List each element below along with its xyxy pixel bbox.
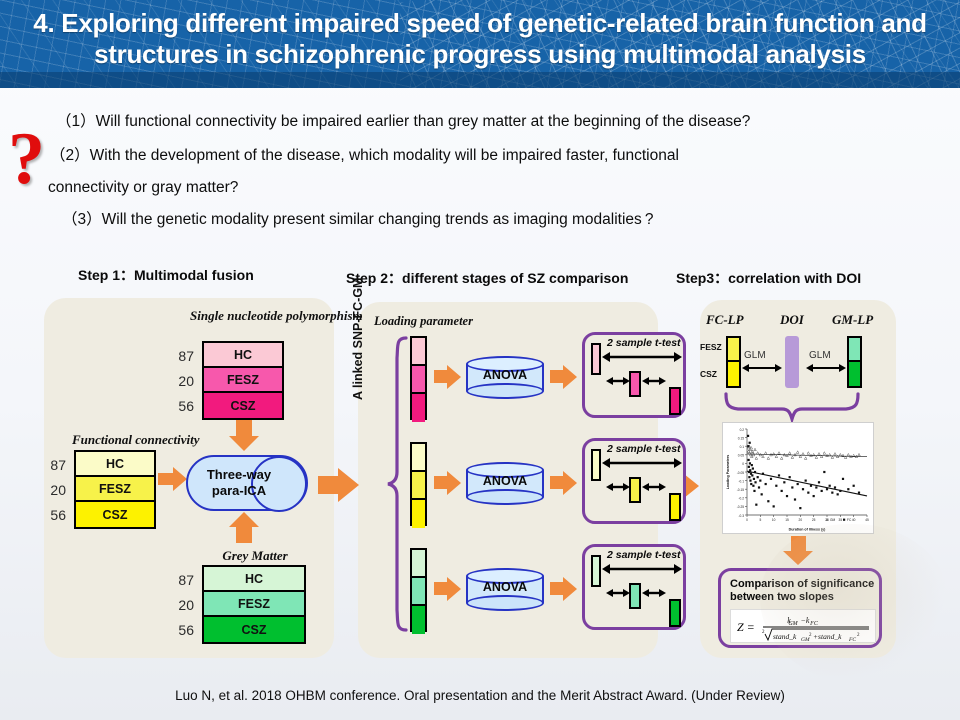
glm-arrow-left (742, 362, 782, 374)
count-value: 56 (42, 502, 66, 527)
fc-stack: HCFESZCSZ (74, 450, 156, 529)
snp-label: Single nucleotide polymorphism (190, 308, 320, 324)
count-value: 20 (170, 368, 194, 393)
anova-label: ANOVA (466, 474, 544, 488)
stack-cell-csz: CSZ (204, 393, 282, 418)
loading-strip-segment (412, 550, 425, 578)
loading-strip-segment (412, 578, 425, 606)
gm-counts: 872056 (170, 567, 194, 642)
arrow-step1-to-step2 (318, 466, 360, 504)
step3-brace (722, 392, 862, 422)
gm-label: Grey Matter (190, 548, 320, 564)
count-value: 20 (42, 477, 66, 502)
svg-text:GM: GM (830, 518, 835, 522)
svg-text:0: 0 (746, 518, 748, 522)
svg-text:5: 5 (759, 518, 761, 522)
snp-stack: HCFESZCSZ (202, 341, 284, 420)
svg-text:0.15: 0.15 (738, 436, 744, 440)
banner-bottom-band (0, 72, 960, 88)
count-value: 87 (42, 452, 66, 477)
svg-text:0: 0 (742, 462, 744, 466)
fc-counts: 872056 (42, 452, 66, 527)
loading-strip-segment (412, 338, 425, 366)
ttest-bar (591, 343, 601, 375)
question-line-3: （3）Will the genetic modality present sim… (62, 210, 654, 229)
loading-parameter-label: Loading parameter (374, 314, 473, 329)
formula-lhs: Z = (737, 620, 755, 634)
lp-bar-segment (849, 338, 860, 362)
arrow-strip-to-anova (434, 364, 462, 390)
lp-bar-segment (849, 362, 860, 386)
ttest-bar (629, 477, 641, 503)
question-line-2-cont: connectivity or gray matter? (48, 178, 238, 197)
stack-cell-hc: HC (76, 452, 154, 477)
svg-text:0.2: 0.2 (740, 428, 745, 432)
loading-strip-fc-row (410, 442, 427, 526)
ttest-box-fc-row: 2 sample t-test (582, 438, 686, 524)
arrow-anova-to-ttest (550, 576, 578, 602)
glm-label-right: GLM (809, 350, 831, 361)
lp-bar-segment (728, 362, 739, 386)
svg-text:0.1: 0.1 (740, 445, 745, 449)
step3-caption: Step3：correlation with DOI (676, 268, 861, 288)
arrow-strip-to-anova (434, 470, 462, 496)
footer-citation: Luo N, et al. 2018 OHBM conference. Oral… (0, 688, 960, 703)
fc-lp-row-label-fesz: FESZ (700, 342, 722, 352)
svg-text:-0.15: -0.15 (737, 488, 744, 492)
correlation-scatter-plot: 0.20.150.10.050-0.05-0.1-0.15-0.2-0.25-0… (722, 422, 874, 534)
ttest-bar (591, 555, 601, 587)
stack-cell-fesz: FESZ (76, 477, 154, 502)
count-value: 56 (170, 617, 194, 642)
page-title: 4. Exploring different impaired speed of… (0, 0, 960, 70)
svg-text:25: 25 (812, 518, 816, 522)
stack-cell-fesz: FESZ (204, 368, 282, 393)
svg-text:45: 45 (865, 518, 869, 522)
gm-lp-label: GM-LP (832, 312, 873, 328)
count-value: 56 (170, 393, 194, 418)
ttest-bar (591, 449, 601, 481)
svg-text:-0.1: -0.1 (739, 479, 745, 483)
cylinder-bottom (466, 489, 544, 505)
ttest-box-gm-row: 2 sample t-test (582, 544, 686, 630)
svg-text:FC: FC (847, 518, 852, 522)
fc-lp-label: FC-LP (706, 312, 744, 328)
fc-lp-bar (726, 336, 741, 388)
step2-brace (386, 336, 408, 632)
anova-label: ANOVA (466, 368, 544, 382)
cylinder-bottom (466, 595, 544, 611)
svg-text:-0.3: -0.3 (739, 514, 745, 518)
gm-stack: HCFESZCSZ (202, 565, 306, 644)
cylinder-bottom (466, 383, 544, 399)
svg-text:-0.05: -0.05 (737, 471, 744, 475)
glm-label-left: GLM (744, 350, 766, 361)
svg-text:20: 20 (799, 518, 803, 522)
ttest-bar (669, 493, 681, 521)
doi-bar (785, 336, 799, 388)
loading-strip-segment (412, 366, 425, 394)
loading-strip-gm-row (410, 548, 427, 632)
loading-strip-segment (412, 500, 425, 528)
fc-lp-row-label-csz: CSZ (700, 369, 717, 379)
brain-watermark (760, 524, 950, 684)
question-line-2: （2）With the development of the disease, … (50, 146, 679, 165)
svg-text:2: 2 (762, 630, 765, 635)
stack-cell-csz: CSZ (204, 617, 304, 642)
title-banner: 4. Exploring different impaired speed of… (0, 0, 960, 88)
svg-text:10: 10 (772, 518, 776, 522)
svg-text:-0.2: -0.2 (739, 497, 745, 501)
anova-cylinder-fc-row: ANOVA (466, 462, 544, 504)
count-value: 20 (170, 592, 194, 617)
doi-label: DOI (780, 312, 804, 328)
ttest-bar (669, 599, 681, 627)
svg-text:Loading Parameters: Loading Parameters (726, 455, 730, 490)
snp-counts: 872056 (170, 343, 194, 418)
arrow-gm-to-ica (228, 512, 262, 544)
anova-label: ANOVA (466, 580, 544, 594)
ttest-bar (629, 371, 641, 397)
anova-cylinder-snp-row: ANOVA (466, 356, 544, 398)
ica-label: Three-way para-ICA (196, 467, 282, 499)
arrow-anova-to-ttest (550, 364, 578, 390)
gm-lp-bar (847, 336, 862, 388)
count-value: 87 (170, 567, 194, 592)
svg-text:15: 15 (785, 518, 789, 522)
arrow-fc-to-ica (158, 465, 188, 499)
three-way-para-ica-node: Three-way para-ICA (186, 455, 308, 511)
stack-cell-hc: HC (204, 567, 304, 592)
step1-caption: Step 1：Multimodal fusion (78, 265, 254, 285)
ttest-label: 2 sample t-test (607, 337, 681, 349)
arrow-strip-to-anova (434, 576, 462, 602)
fc-label: Functional connectivity (72, 432, 188, 448)
loading-strip-segment (412, 394, 425, 422)
ttest-label: 2 sample t-test (607, 549, 681, 561)
ttest-bar (669, 387, 681, 415)
svg-text:-0.25: -0.25 (737, 505, 744, 509)
svg-text:0.05: 0.05 (738, 454, 744, 458)
linked-snp-fc-gm-label: A linked SNP-FC-GM (351, 278, 365, 400)
count-value: 87 (170, 343, 194, 368)
svg-text:40: 40 (852, 518, 856, 522)
stack-cell-csz: CSZ (76, 502, 154, 527)
lp-bar-segment (728, 338, 739, 362)
loading-strip-segment (412, 606, 425, 634)
arrow-anova-to-ttest (550, 470, 578, 496)
ttest-label: 2 sample t-test (607, 443, 681, 455)
ttest-box-snp-row: 2 sample t-test (582, 332, 686, 418)
question-line-1: （1）Will functional connectivity be impai… (56, 112, 750, 131)
svg-text:35: 35 (839, 518, 843, 522)
loading-strip-snp-row (410, 336, 427, 420)
stack-cell-fesz: FESZ (204, 592, 304, 617)
stack-cell-hc: HC (204, 343, 282, 368)
loading-strip-segment (412, 472, 425, 500)
loading-strip-segment (412, 444, 425, 472)
glm-arrow-right (806, 362, 846, 374)
step2-caption: Step 2：different stages of SZ comparison (346, 268, 628, 288)
anova-cylinder-gm-row: ANOVA (466, 568, 544, 610)
ttest-bar (629, 583, 641, 609)
arrow-snp-to-ica (228, 420, 262, 452)
